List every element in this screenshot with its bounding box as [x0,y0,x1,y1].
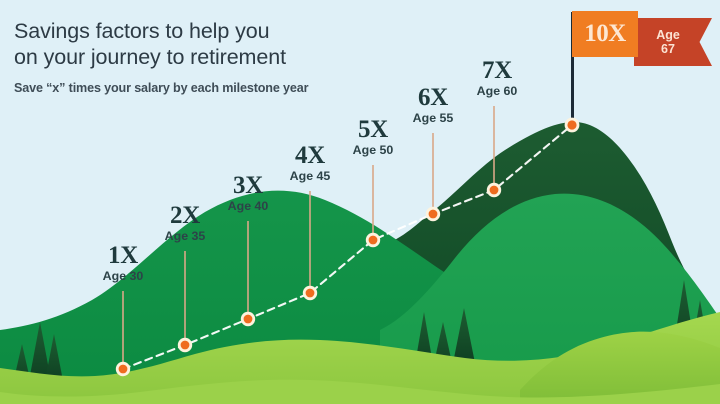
marker-10x-summit[interactable] [565,118,580,133]
milestone-label-2x[interactable]: 2X Age 35 [165,203,206,244]
marker-4x[interactable] [303,286,317,300]
mountain-illustration [0,0,720,404]
marker-5x[interactable] [366,233,380,247]
milestone-multiple-4x: 4X [290,143,331,168]
marker-1x[interactable] [116,362,130,376]
milestone-label-1x[interactable]: 1X Age 30 [103,243,144,284]
marker-3x[interactable] [241,312,255,326]
milestone-label-5x[interactable]: 5X Age 50 [353,117,394,158]
milestone-multiple-7x: 7X [477,58,518,83]
milestone-label-7x[interactable]: 7X Age 60 [477,58,518,99]
milestone-age-1x: Age 30 [103,269,144,284]
milestone-age-2x: Age 35 [165,229,206,244]
milestone-age-3x: Age 40 [228,199,269,214]
milestone-label-6x[interactable]: 6X Age 55 [413,85,454,126]
milestone-multiple-6x: 6X [413,85,454,110]
milestone-label-4x[interactable]: 4X Age 45 [290,143,331,184]
marker-2x[interactable] [178,338,192,352]
milestone-age-4x: Age 45 [290,169,331,184]
milestone-age-7x: Age 60 [477,84,518,99]
milestone-multiple-2x: 2X [165,203,206,228]
milestone-multiple-1x: 1X [103,243,144,268]
milestone-label-3x[interactable]: 3X Age 40 [228,173,269,214]
milestone-age-5x: Age 50 [353,143,394,158]
infographic-canvas: Savings factors to help you on your jour… [0,0,720,404]
milestone-multiple-5x: 5X [353,117,394,142]
marker-7x[interactable] [487,183,501,197]
milestone-multiple-3x: 3X [228,173,269,198]
milestone-age-6x: Age 55 [413,111,454,126]
marker-6x[interactable] [426,207,440,221]
